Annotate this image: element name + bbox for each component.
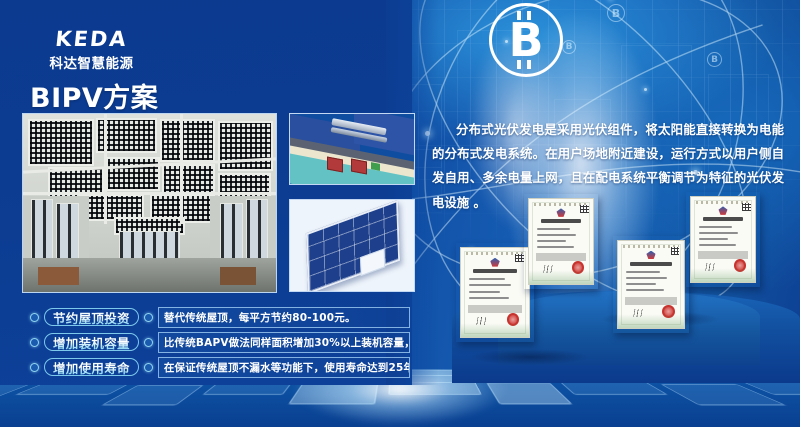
page-title: BIPV方案: [30, 76, 158, 115]
ring-dot-icon: [30, 363, 39, 372]
feature-badge-label: 节约屋顶投资: [47, 308, 136, 327]
ring-dot-icon: [30, 313, 39, 322]
feature-description: 比传统BAPV做法同样面积增加30%以上装机容量，增加绿电发电量。: [158, 332, 410, 353]
bitcoin-glyph: B: [508, 17, 543, 63]
bitcoin-ghost-icon: B: [562, 40, 576, 54]
ring-dot-icon: [144, 363, 153, 372]
ring-dot-icon: [144, 313, 153, 322]
pv-mounting-detail-diagram: [289, 113, 415, 185]
brand-logo[interactable]: KEDA 科达智慧能源: [29, 28, 154, 72]
logo-wordmark: KEDA: [28, 28, 155, 50]
feature-row: 增加使用寿命 在保证传统屋顶不漏水等功能下，使用寿命达到25年（传统屋顶5-10…: [30, 356, 410, 378]
bitcoin-icon: B: [489, 3, 563, 77]
feature-badge[interactable]: 增加装机容量: [44, 333, 139, 351]
poster-canvas: B B B B B KEDA 科达智慧能源 BIPV方案: [0, 0, 800, 427]
feature-badge[interactable]: 节约屋顶投资: [44, 308, 139, 326]
feature-description: 替代传统屋顶，每平方节约80-100元。: [158, 307, 410, 328]
pv-array-3d-diagram: [289, 199, 415, 292]
feature-bullet-list: 节约屋顶投资 替代传统屋顶，每平方节约80-100元。 增加装机容量 比传统BA…: [30, 306, 410, 378]
ring-dot-icon: [144, 338, 153, 347]
certificate-shadow: [470, 349, 590, 365]
certificate-3: [613, 236, 689, 333]
bipv-atrium-roof-photo: [22, 113, 277, 293]
feature-row: 节约屋顶投资 替代传统屋顶，每平方节约80-100元。: [30, 306, 410, 328]
certificate-2: [524, 194, 598, 289]
certificate-1: [456, 243, 534, 342]
feature-badge[interactable]: 增加使用寿命: [44, 358, 139, 376]
logo-chinese-name: 科达智慧能源: [29, 52, 154, 72]
feature-badge-label: 增加使用寿命: [47, 358, 136, 377]
bitcoin-ghost-icon: B: [607, 4, 625, 22]
ring-dot-icon: [30, 338, 39, 347]
feature-row: 增加装机容量 比传统BAPV做法同样面积增加30%以上装机容量，增加绿电发电量。: [30, 331, 410, 353]
feature-badge-label: 增加装机容量: [47, 333, 136, 352]
bitcoin-ghost-icon: B: [707, 52, 722, 67]
certificate-4: [686, 192, 760, 287]
feature-description: 在保证传统屋顶不漏水等功能下，使用寿命达到25年（传统屋顶5-10年左右）。: [158, 357, 410, 378]
